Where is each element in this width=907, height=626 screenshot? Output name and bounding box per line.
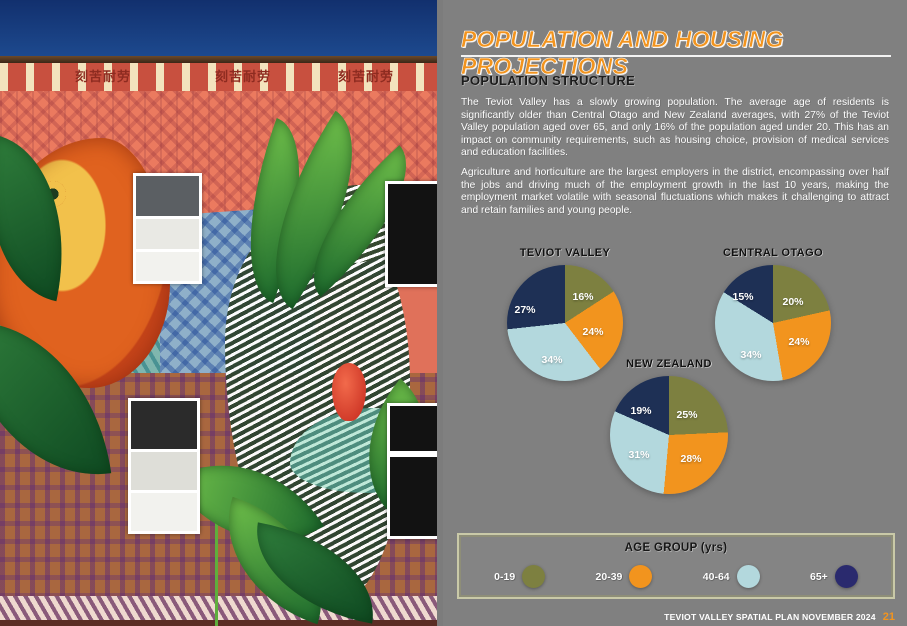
legend-color-swatch — [629, 565, 652, 588]
section-subheading: POPULATION STRUCTURE — [461, 73, 635, 88]
legend-item-0-19: 0-19 — [494, 565, 545, 588]
page-footer: TEVIOT VALLEY SPATIAL PLAN NOVEMBER 2024… — [664, 611, 895, 623]
slice-label-40-64: 31% — [628, 449, 649, 461]
mural-photograph: 刻苦耐劳 刻苦耐劳 刻苦耐劳 — [0, 0, 443, 626]
pie-chart-new-zealand: NEW ZEALAND 25% 28% 31% 19% — [599, 358, 739, 508]
slice-label-20-39: 24% — [788, 336, 809, 348]
window-upper-right — [385, 181, 443, 287]
window-lower-right — [387, 403, 443, 539]
legend-item-65-: 65+ — [810, 565, 858, 588]
chinese-characters-3: 刻苦耐劳 — [338, 66, 394, 85]
content-panel: POPULATION AND HOUSING PROJECTIONS POPUL… — [443, 0, 907, 626]
legend-item-list: 0-1920-3940-6465+ — [469, 565, 883, 588]
legend-color-swatch — [835, 565, 858, 588]
legend-color-swatch — [737, 565, 760, 588]
slice-label-20-39: 24% — [582, 326, 603, 338]
legend-title: AGE GROUP (yrs) — [459, 542, 893, 554]
slice-label-0-19: 25% — [676, 409, 697, 421]
pie-graphic-new-zealand — [610, 376, 728, 494]
slice-label-65plus: 19% — [630, 405, 651, 417]
footer-page-number: 21 — [883, 611, 895, 623]
legend-item-20-39: 20-39 — [596, 565, 653, 588]
red-fruit-mural — [332, 363, 366, 421]
document-page: 刻苦耐劳 刻苦耐劳 刻苦耐劳 — [0, 0, 907, 626]
slice-label-40-64: 34% — [740, 349, 761, 361]
legend-item-40-64: 40-64 — [703, 565, 760, 588]
chinese-characters-1: 刻苦耐劳 — [75, 66, 131, 85]
paragraph-population: The Teviot Valley has a slowly growing p… — [461, 97, 889, 160]
page-title: POPULATION AND HOUSING PROJECTIONS — [461, 26, 891, 80]
chart-legend: AGE GROUP (yrs) 0-1920-3940-6465+ — [457, 533, 895, 599]
slice-label-0-19: 16% — [572, 291, 593, 303]
slice-label-40-64: 34% — [541, 354, 562, 366]
title-underline — [461, 55, 891, 57]
legend-item-label: 20-39 — [596, 571, 623, 583]
pie-title-new-zealand: NEW ZEALAND — [626, 358, 712, 370]
slice-label-0-19: 20% — [782, 296, 803, 308]
pie-title-central-otago: CENTRAL OTAGO — [723, 247, 823, 259]
chinese-characters-2: 刻苦耐劳 — [215, 66, 271, 85]
legend-color-swatch — [522, 565, 545, 588]
sky-region — [0, 0, 443, 58]
window-upper-left — [133, 173, 202, 284]
legend-item-label: 40-64 — [703, 571, 730, 583]
mural-wall: 刻苦耐劳 刻苦耐劳 刻苦耐劳 — [0, 63, 443, 626]
paragraph-employment: Agriculture and horticulture are the lar… — [461, 167, 889, 217]
slice-label-65plus: 27% — [514, 304, 535, 316]
slice-label-20-39: 28% — [680, 453, 701, 465]
legend-item-label: 0-19 — [494, 571, 515, 583]
roof-line — [0, 56, 443, 63]
slice-label-65plus: 15% — [732, 291, 753, 303]
window-lower-left — [128, 398, 200, 534]
footer-text: TEVIOT VALLEY SPATIAL PLAN NOVEMBER 2024 — [664, 612, 876, 622]
bottle-frieze — [0, 620, 443, 626]
legend-item-label: 65+ — [810, 571, 828, 583]
rope-pattern-band — [0, 596, 443, 620]
pie-title-teviot-valley: TEVIOT VALLEY — [520, 247, 611, 259]
